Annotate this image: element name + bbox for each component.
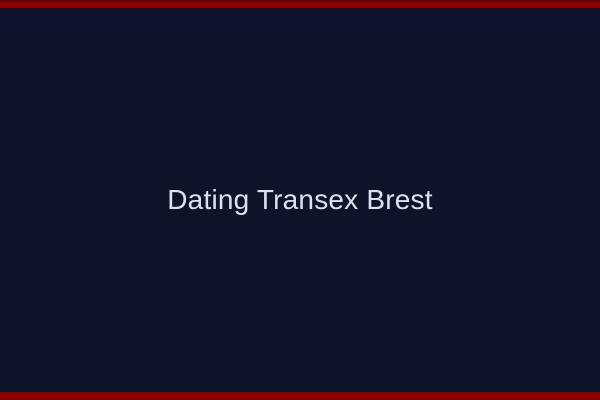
bottom-red-rule — [0, 392, 600, 400]
banner-caption: Dating Transex Brest — [167, 185, 432, 216]
placeholder-banner: Dating Transex Brest — [0, 0, 600, 400]
caption-container: Dating Transex Brest — [0, 0, 600, 400]
